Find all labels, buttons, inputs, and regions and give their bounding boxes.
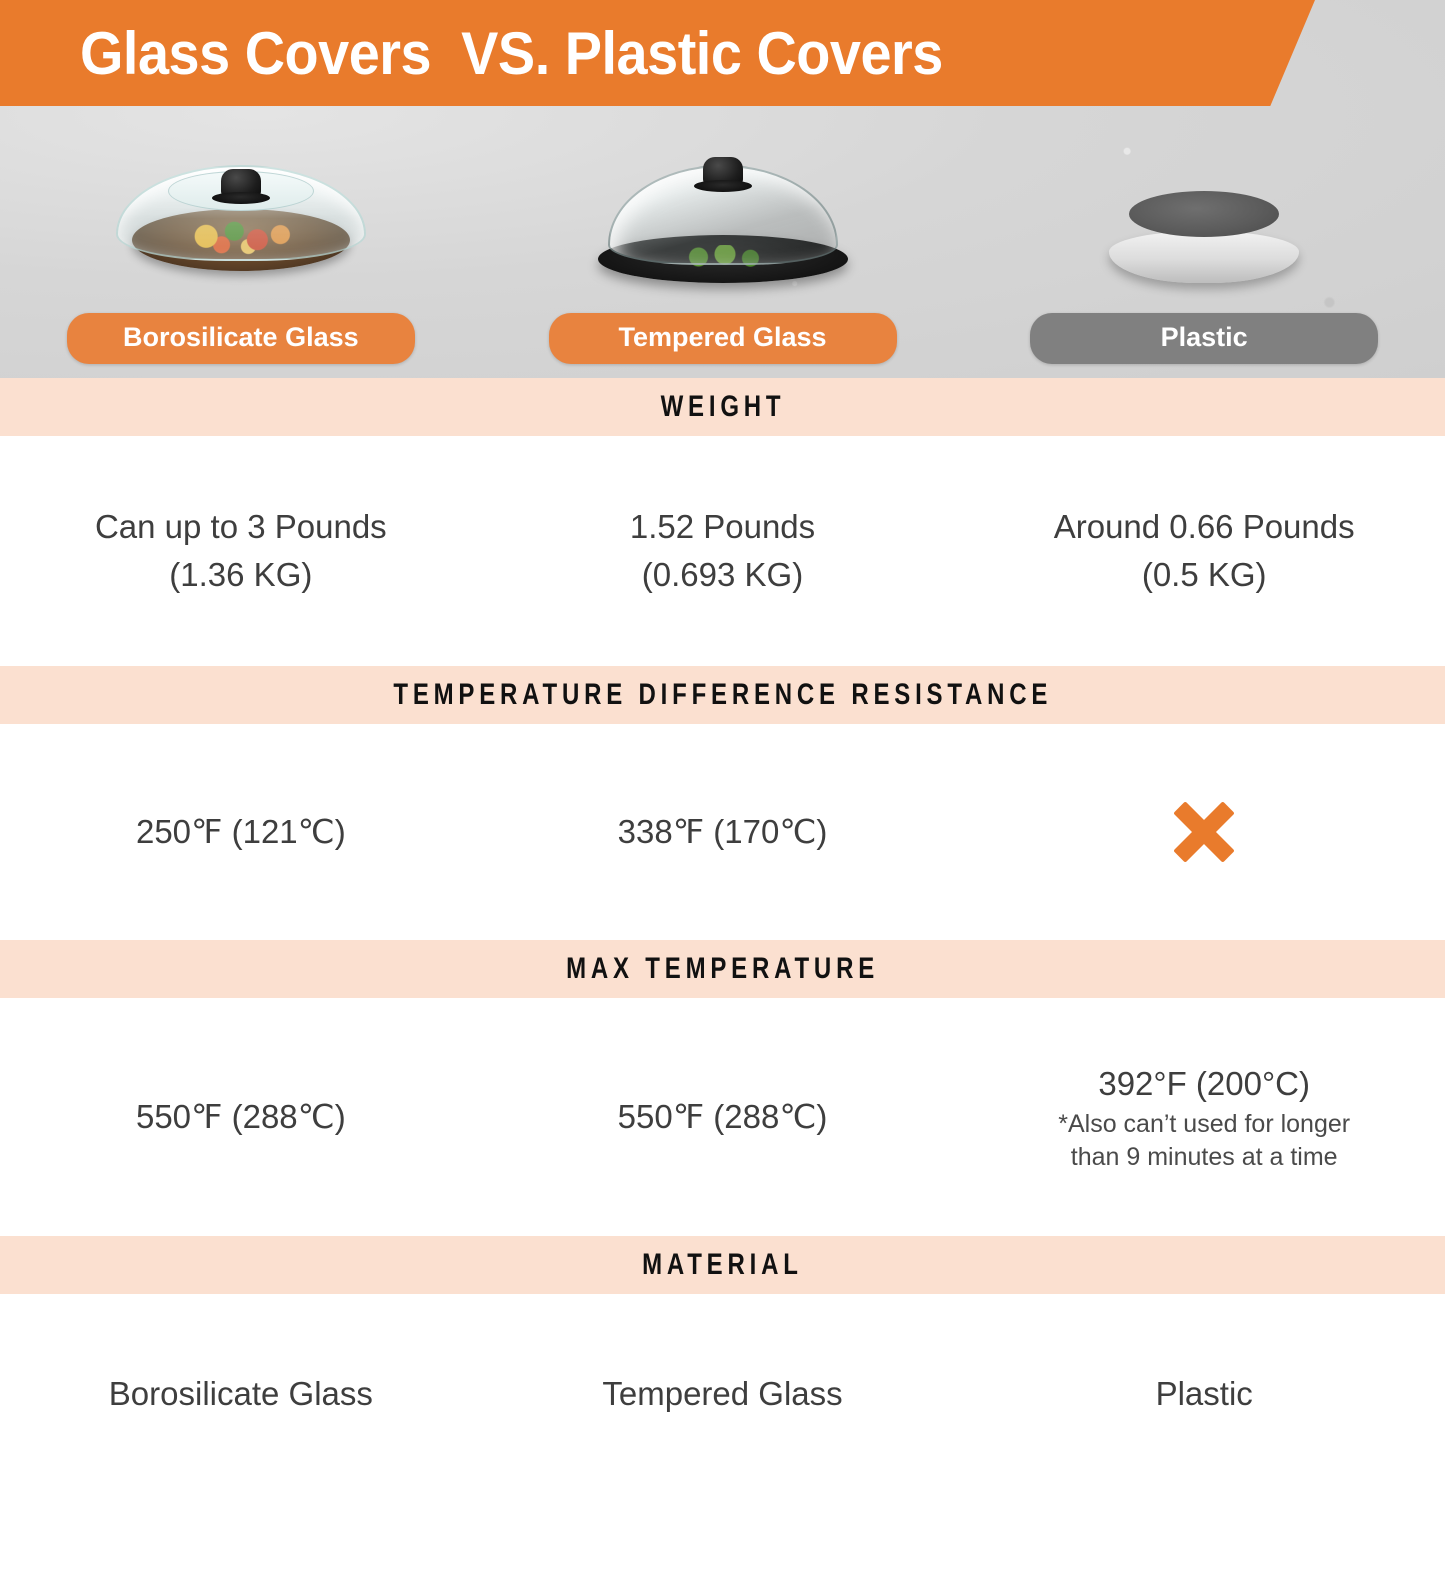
- title-banner: Glass Covers VS. Plastic Covers: [0, 0, 1315, 106]
- cell-tdr-plastic: [963, 724, 1445, 940]
- plastic-cover-icon: [1109, 191, 1299, 283]
- section-header-weight: WEIGHT: [0, 378, 1445, 436]
- plastic-cover-image: [1069, 137, 1339, 307]
- value-line: Tempered Glass: [602, 1370, 842, 1418]
- cell-maxtemp-tempered: 550℉ (288℃): [482, 998, 964, 1236]
- section-row-max-temperature: 550℉ (288℃) 550℉ (288℃) 392°F (200°C) *A…: [0, 998, 1445, 1236]
- product-label-borosilicate: Borosilicate Glass: [67, 313, 415, 364]
- cell-tdr-tempered: 338℉ (170℃): [482, 724, 964, 940]
- section-header-temp-difference-resistance: TEMPERATURE DIFFERENCE RESISTANCE: [0, 666, 1445, 724]
- glass-dome-icon: [116, 165, 366, 275]
- value-line: 250℉ (121℃): [136, 808, 346, 856]
- section-title-material: MATERIAL: [642, 1248, 803, 1282]
- borosilicate-cover-image: [106, 137, 376, 307]
- value-line: 550℉ (288℃): [136, 1093, 346, 1141]
- section-title-temp-difference-resistance: TEMPERATURE DIFFERENCE RESISTANCE: [393, 678, 1052, 712]
- value-line: Borosilicate Glass: [109, 1370, 373, 1418]
- value-line: 392°F (200°C): [1098, 1060, 1310, 1108]
- product-label-tempered: Tempered Glass: [549, 313, 897, 364]
- product-column-tempered: Tempered Glass: [482, 106, 964, 378]
- cell-tdr-borosilicate: 250℉ (121℃): [0, 724, 482, 940]
- product-column-borosilicate: Borosilicate Glass: [0, 106, 482, 378]
- product-label-plastic: Plastic: [1030, 313, 1378, 364]
- value-line: 550℉ (288℃): [618, 1093, 828, 1141]
- x-mark-icon: [1172, 800, 1236, 864]
- cell-maxtemp-plastic: 392°F (200°C) *Also can’t used for longe…: [963, 998, 1445, 1236]
- product-column-plastic: Plastic: [963, 106, 1445, 378]
- value-line-secondary: (0.693 KG): [642, 551, 803, 599]
- page-title: Glass Covers VS. Plastic Covers: [0, 19, 943, 88]
- value-line-secondary: (1.36 KG): [169, 551, 312, 599]
- value-line: Around 0.66 Pounds: [1054, 503, 1355, 551]
- tempered-dome-icon: [598, 157, 848, 287]
- cell-weight-plastic: Around 0.66 Pounds (0.5 KG): [963, 436, 1445, 666]
- value-line-secondary: (0.5 KG): [1142, 551, 1267, 599]
- cell-material-tempered: Tempered Glass: [482, 1294, 964, 1494]
- cell-weight-borosilicate: Can up to 3 Pounds (1.36 KG): [0, 436, 482, 666]
- value-note-line-2: than 9 minutes at a time: [1071, 1141, 1338, 1174]
- section-header-max-temperature: MAX TEMPERATURE: [0, 940, 1445, 998]
- cell-weight-tempered: 1.52 Pounds (0.693 KG): [482, 436, 964, 666]
- section-title-max-temperature: MAX TEMPERATURE: [566, 952, 879, 986]
- plastic-base: [1109, 231, 1299, 283]
- value-line: Can up to 3 Pounds: [95, 503, 387, 551]
- hero-photo-band: Glass Covers VS. Plastic Covers Borosili…: [0, 0, 1445, 378]
- cell-maxtemp-borosilicate: 550℉ (288℃): [0, 998, 482, 1236]
- cell-material-plastic: Plastic: [963, 1294, 1445, 1494]
- value-line: 1.52 Pounds: [630, 503, 815, 551]
- value-line: Plastic: [1156, 1370, 1253, 1418]
- section-row-weight: Can up to 3 Pounds (1.36 KG) 1.52 Pounds…: [0, 436, 1445, 666]
- comparison-infographic: Glass Covers VS. Plastic Covers Borosili…: [0, 0, 1445, 1445]
- product-columns: Borosilicate Glass Tempered Glass: [0, 106, 1445, 378]
- value-line: 338℉ (170℃): [618, 808, 828, 856]
- section-row-material: Borosilicate Glass Tempered Glass Plasti…: [0, 1294, 1445, 1494]
- knob-icon: [703, 157, 743, 187]
- plastic-top-disc: [1129, 191, 1279, 237]
- knob-icon: [221, 169, 261, 199]
- section-title-weight: WEIGHT: [660, 390, 785, 424]
- tempered-cover-image: [588, 137, 858, 307]
- bottom-spacer: [0, 1494, 1445, 1574]
- section-row-temp-difference-resistance: 250℉ (121℃) 338℉ (170℃): [0, 724, 1445, 940]
- cell-material-borosilicate: Borosilicate Glass: [0, 1294, 482, 1494]
- value-note-line-1: *Also can’t used for longer: [1058, 1108, 1350, 1141]
- section-header-material: MATERIAL: [0, 1236, 1445, 1294]
